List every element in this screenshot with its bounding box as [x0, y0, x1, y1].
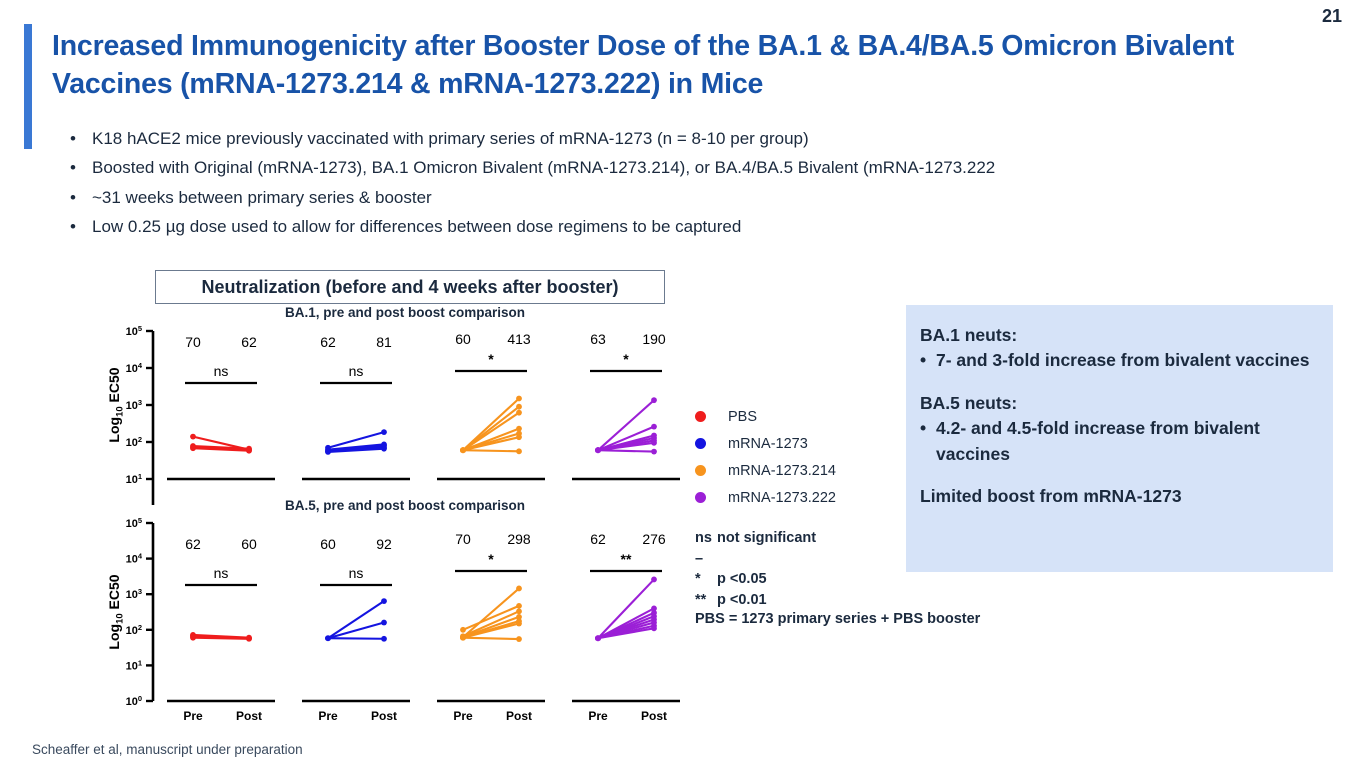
data-point-post — [381, 598, 387, 604]
list-item: • K18 hACE2 mice previously vaccinated w… — [70, 126, 1300, 152]
ba1-panel: BA.1, pre and post boost comparison10110… — [106, 305, 680, 505]
callout-ba5-heading: BA.5 neuts: — [920, 391, 1317, 416]
neutralization-header-label: Neutralization (before and 4 weeks after… — [201, 277, 618, 298]
callout-ba1-bullet: • 7- and 3-fold increase from bivalent v… — [920, 348, 1317, 373]
data-line — [328, 638, 384, 639]
y-axis-tick-label: 101 — [126, 472, 142, 486]
gmt-value-post: 413 — [507, 331, 531, 347]
data-point-post — [651, 577, 657, 583]
group-mrna-1273: ns6092PrePost — [302, 536, 410, 723]
data-point-pre — [460, 627, 466, 633]
data-point-pre — [190, 635, 196, 641]
gmt-value-pre: 62 — [590, 531, 606, 547]
x-axis-label-pre: Pre — [318, 709, 338, 723]
data-point-post — [516, 434, 522, 440]
data-line — [328, 623, 384, 639]
y-axis-title: Log10 EC50 — [106, 367, 126, 442]
panel-title: BA.5, pre and post boost comparison — [285, 498, 525, 513]
data-point-post — [516, 448, 522, 454]
data-line — [463, 638, 519, 639]
list-item-text: Boosted with Original (mRNA-1273), BA.1 … — [92, 155, 995, 181]
group-pbs: ns7062 — [167, 334, 275, 479]
significance-note: ** p <0.01 — [695, 590, 935, 611]
legend-item-mrna-1273-222: mRNA-1273.222 — [695, 484, 836, 511]
callout-ba5-bullet-text: 4.2- and 4.5-fold increase from bivalent… — [936, 416, 1317, 467]
significance-mark: ns – — [695, 528, 717, 569]
slide-number: 21 — [1322, 6, 1342, 27]
group-mrna-1273-222: *63190 — [572, 331, 680, 479]
y-axis-tick-label: 103 — [126, 398, 142, 412]
data-point-post — [516, 621, 522, 627]
significance-label: ns — [349, 565, 364, 581]
bullet-marker-icon: • — [70, 185, 92, 211]
callout-ba1-heading: BA.1 neuts: — [920, 323, 1317, 348]
significance-label: * — [623, 351, 629, 367]
data-point-post — [651, 625, 657, 631]
data-line — [328, 601, 384, 638]
data-point-post — [516, 396, 522, 402]
data-point-pre — [190, 445, 196, 451]
conclusions-callout-box: BA.1 neuts: • 7- and 3-fold increase fro… — [906, 305, 1333, 572]
data-point-post — [246, 636, 252, 642]
list-item: • Low 0.25 µg dose used to allow for dif… — [70, 214, 1300, 240]
y-axis-tick-label: 104 — [126, 552, 143, 566]
data-line — [463, 450, 519, 451]
significance-label: ns — [214, 565, 229, 581]
legend-dot-icon — [695, 465, 706, 476]
list-item-text: ~31 weeks between primary series & boost… — [92, 185, 432, 211]
legend-item-mrna-1273: mRNA-1273 — [695, 430, 836, 457]
gmt-value-post: 62 — [241, 334, 257, 350]
legend-item-pbs: PBS — [695, 403, 836, 430]
x-axis-label-pre: Pre — [588, 709, 608, 723]
x-axis-label-pre: Pre — [453, 709, 473, 723]
data-point-post — [381, 446, 387, 452]
significance-text: p <0.05 — [717, 569, 767, 590]
bullet-marker-icon: • — [70, 155, 92, 181]
callout-spacer — [920, 467, 1317, 484]
gmt-value-pre: 62 — [185, 536, 201, 552]
gmt-value-pre: 70 — [455, 531, 471, 547]
group-mrna-1273-214: *70298PrePost — [437, 531, 545, 723]
y-axis-title: Log10 EC50 — [106, 574, 126, 649]
page-title: Increased Immunogenicity after Booster D… — [52, 28, 1282, 104]
data-point-pre — [595, 447, 601, 453]
legend-dot-icon — [695, 411, 706, 422]
list-item-text: Low 0.25 µg dose used to allow for diffe… — [92, 214, 741, 240]
data-point-post — [381, 636, 387, 642]
x-axis-label-post: Post — [506, 709, 532, 723]
gmt-value-post: 60 — [241, 536, 257, 552]
legend-label: mRNA-1273.214 — [728, 463, 836, 479]
significance-text: p <0.01 — [717, 590, 767, 611]
gmt-value-pre: 70 — [185, 334, 201, 350]
gmt-value-pre: 60 — [320, 536, 336, 552]
legend-label: PBS — [728, 409, 757, 425]
gmt-value-post: 92 — [376, 536, 392, 552]
data-point-post — [516, 636, 522, 642]
data-point-post — [516, 603, 522, 609]
gmt-value-pre: 60 — [455, 331, 471, 347]
y-axis-tick-label: 101 — [126, 658, 142, 672]
pbs-definition-note: PBS = 1273 primary series + PBS booster — [695, 611, 980, 627]
footer-citation: Scheaffer et al, manuscript under prepar… — [32, 742, 303, 757]
significance-label: ns — [214, 363, 229, 379]
data-point-post — [651, 424, 657, 430]
data-point-pre — [460, 447, 466, 453]
gmt-value-pre: 63 — [590, 331, 606, 347]
data-point-pre — [325, 449, 331, 455]
callout-ba5-bullet: • 4.2- and 4.5-fold increase from bivale… — [920, 416, 1317, 467]
significance-label: * — [488, 351, 494, 367]
y-axis-tick-label: 100 — [126, 694, 142, 708]
group-pbs: ns6260PrePost — [167, 536, 275, 723]
legend-label: mRNA-1273.222 — [728, 490, 836, 506]
significance-note: ns – not significant — [695, 528, 935, 569]
legend-label: mRNA-1273 — [728, 436, 808, 452]
data-point-post — [381, 429, 387, 435]
bullet-marker-icon: • — [70, 214, 92, 240]
chart-area: BA.1, pre and post boost comparison10110… — [105, 305, 705, 730]
bullet-marker-icon: • — [920, 348, 936, 373]
data-point-post — [516, 586, 522, 592]
significance-label: ns — [349, 363, 364, 379]
significance-label: * — [488, 551, 494, 567]
significance-label: ** — [621, 551, 632, 567]
legend-item-mrna-1273-214: mRNA-1273.214 — [695, 457, 836, 484]
y-axis-tick-label: 105 — [126, 516, 142, 530]
data-point-post — [381, 620, 387, 626]
y-axis-tick-label: 105 — [126, 324, 142, 338]
gmt-value-post: 190 — [642, 331, 666, 347]
data-point-post — [516, 410, 522, 416]
y-axis-tick-label: 104 — [126, 361, 143, 375]
group-mrna-1273: ns6281 — [302, 334, 410, 479]
callout-summary: Limited boost from mRNA-1273 — [920, 484, 1317, 509]
y-axis-tick-label: 102 — [126, 435, 142, 449]
data-point-pre — [325, 635, 331, 641]
chart-legend: PBS mRNA-1273 mRNA-1273.214 mRNA-1273.22… — [695, 403, 836, 511]
gmt-value-post: 276 — [642, 531, 666, 547]
data-point-post — [651, 440, 657, 446]
bullet-marker-icon: • — [920, 416, 936, 467]
callout-spacer — [920, 374, 1317, 391]
y-axis-tick-label: 102 — [126, 623, 142, 637]
data-point-post — [516, 404, 522, 410]
data-point-pre — [595, 635, 601, 641]
x-axis-label-post: Post — [371, 709, 397, 723]
neutralization-charts: BA.1, pre and post boost comparison10110… — [105, 305, 705, 730]
significance-note: * p <0.05 — [695, 569, 935, 590]
panel-title: BA.1, pre and post boost comparison — [285, 305, 525, 320]
significance-text: not significant — [717, 528, 816, 569]
legend-dot-icon — [695, 492, 706, 503]
data-line — [193, 638, 249, 639]
neutralization-header-box: Neutralization (before and 4 weeks after… — [155, 270, 665, 304]
group-mrna-1273-214: *60413 — [437, 331, 545, 479]
significance-mark: ** — [695, 590, 717, 611]
data-point-pre — [460, 635, 466, 641]
data-point-post — [246, 448, 252, 454]
ba5-panel: BA.5, pre and post boost comparison10010… — [106, 498, 680, 723]
data-line — [598, 450, 654, 451]
data-point-post — [516, 608, 522, 614]
gmt-value-post: 298 — [507, 531, 531, 547]
x-axis-label-post: Post — [641, 709, 667, 723]
gmt-value-post: 81 — [376, 334, 392, 350]
data-point-post — [651, 397, 657, 403]
x-axis-label-post: Post — [236, 709, 262, 723]
data-point-pre — [190, 434, 196, 440]
gmt-value-pre: 62 — [320, 334, 336, 350]
title-accent-bar — [24, 24, 32, 149]
bullet-list: • K18 hACE2 mice previously vaccinated w… — [70, 126, 1300, 243]
list-item: • Boosted with Original (mRNA-1273), BA.… — [70, 155, 1300, 181]
significance-legend: ns – not significant * p <0.05 ** p <0.0… — [695, 528, 935, 610]
legend-dot-icon — [695, 438, 706, 449]
x-axis-label-pre: Pre — [183, 709, 203, 723]
bullet-marker-icon: • — [70, 126, 92, 152]
list-item-text: K18 hACE2 mice previously vaccinated wit… — [92, 126, 809, 152]
significance-mark: * — [695, 569, 717, 590]
group-mrna-1273-222: **62276PrePost — [572, 531, 680, 723]
data-point-post — [651, 449, 657, 455]
title-block: Increased Immunogenicity after Booster D… — [52, 28, 1282, 104]
callout-ba1-bullet-text: 7- and 3-fold increase from bivalent vac… — [936, 348, 1309, 373]
y-axis-tick-label: 103 — [126, 587, 142, 601]
list-item: • ~31 weeks between primary series & boo… — [70, 185, 1300, 211]
